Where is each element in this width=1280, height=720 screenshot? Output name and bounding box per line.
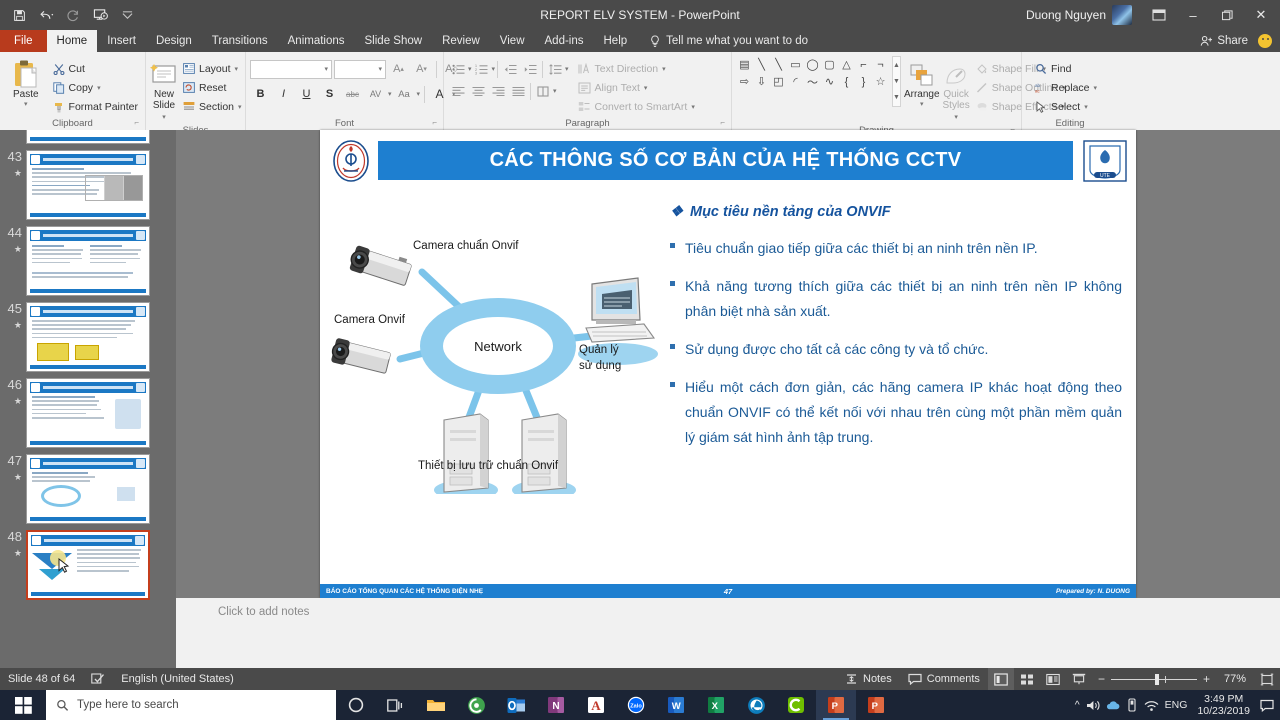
search-icon <box>56 699 69 712</box>
usb-icon[interactable] <box>1126 698 1138 712</box>
arrange-caret-icon[interactable]: ▾ <box>920 100 924 108</box>
shapes-scroll-down-icon[interactable]: ▼ <box>893 73 900 89</box>
columns-caret-icon[interactable]: ▾ <box>553 87 557 95</box>
tab-animations[interactable]: Animations <box>278 30 355 52</box>
comments-label: Comments <box>927 673 980 685</box>
thumbnail-row-partial[interactable] <box>0 130 176 144</box>
title-bar: REPORT ELV SYSTEM - PowerPoint Duong Ngu… <box>0 0 1280 30</box>
svg-text:X: X <box>712 701 719 712</box>
slide-thumbnail-pane[interactable]: 43★ 44★ <box>0 130 176 668</box>
svg-text:Network: Network <box>474 339 522 354</box>
diamond-bullet-icon: ❖ <box>670 204 683 220</box>
slide-thumbnail-46[interactable] <box>26 378 150 448</box>
view-reading-button[interactable] <box>1040 668 1066 690</box>
numbering-caret-icon[interactable]: ▾ <box>492 65 496 73</box>
view-slide-sorter-button[interactable] <box>1014 668 1040 690</box>
clock-time: 3:49 PM <box>1197 693 1250 705</box>
change-case-button[interactable]: Aa <box>394 84 415 104</box>
shape-elbow2-icon[interactable]: ¬ <box>872 56 889 73</box>
shape-effects-icon <box>976 101 988 113</box>
zoom-default-tick <box>1165 676 1166 683</box>
taskbar-search-placeholder: Type here to search <box>77 699 179 711</box>
smartart-icon <box>578 101 591 113</box>
strikethrough-button[interactable]: abc <box>342 84 363 104</box>
animation-star-icon: ★ <box>4 394 22 408</box>
arrange-button[interactable]: Arrange ▾ <box>904 56 940 109</box>
thumbnail-number-47: 47★ <box>4 454 26 484</box>
onvif-network-diagram[interactable]: Network <box>330 224 660 494</box>
square-bullet-icon <box>670 243 675 248</box>
ribbon-group-slides: NewSlide ▾ Layout ▾ Reset Section <box>146 52 246 130</box>
tab-slide-show[interactable]: Slide Show <box>355 30 433 52</box>
notes-pane[interactable]: Click to add notes <box>176 598 1280 668</box>
powerpoint-icon-2[interactable]: P <box>856 690 896 720</box>
group-label-font: Font ⌐ <box>250 117 439 130</box>
shape-right-brace-icon[interactable]: } <box>855 73 872 90</box>
replace-label: Replace <box>1051 82 1090 94</box>
paste-icon <box>12 57 40 89</box>
diagram-label-camera-onvif: Camera Onvif <box>334 314 405 326</box>
decrease-font-size-button[interactable]: A▾ <box>411 59 432 79</box>
shape-fill-icon <box>976 63 988 75</box>
notes-icon <box>845 673 858 685</box>
shape-line-arrow-icon[interactable]: ╲ <box>770 56 787 73</box>
slide-title-banner[interactable]: CÁC THÔNG SỐ CƠ BẢN CỦA HỆ THỐNG CCTV <box>378 141 1073 180</box>
italic-button[interactable]: I <box>273 84 294 104</box>
shape-wave-icon[interactable]: ∿ <box>821 73 838 90</box>
slide-footer-number: 47 <box>320 587 1136 596</box>
group-label-paragraph: Paragraph ⌐ <box>448 117 727 130</box>
bullet-item-1: Tiêu chuẩn giao tiếp giữa các thiết bị a… <box>670 236 1122 261</box>
svg-text:N: N <box>552 701 559 712</box>
shape-elbow-icon[interactable]: ⌐ <box>855 56 872 73</box>
file-explorer-icon[interactable] <box>416 690 456 720</box>
diagram-label-su-dung: sử dụng <box>579 360 621 372</box>
diagram-label-camera-chuan-onvif: Camera chuẩn Onvif <box>413 240 518 252</box>
zoom-out-button[interactable]: − <box>1098 672 1105 686</box>
slide-thumbnail-48-selected[interactable] <box>26 530 150 600</box>
svg-text:W: W <box>672 701 681 712</box>
square-bullet-icon <box>670 382 675 387</box>
slide-title-text: CÁC THÔNG SỐ CƠ BẢN CỦA HỆ THỐNG CCTV <box>490 149 962 172</box>
bullet-text-3: Sử dụng được cho tất cả các công ty và t… <box>685 337 1122 362</box>
convert-to-smartart-button[interactable]: Convert to SmartArt ▾ <box>575 97 698 116</box>
slide-thumbnail-47[interactable] <box>26 454 150 524</box>
redo-icon[interactable] <box>60 3 86 27</box>
character-spacing-button[interactable]: AV <box>365 84 386 104</box>
quick-styles-label-1: Quick <box>943 89 969 100</box>
scissors-icon <box>53 63 65 75</box>
shape-textbox-icon[interactable]: ▤ <box>736 56 753 73</box>
format-painter-icon <box>53 101 65 113</box>
slide-bullet-list[interactable]: ❖ Mục tiêu nền tảng của ONVIF Tiêu chuẩn… <box>670 204 1122 463</box>
account-name[interactable]: Duong Nguyen <box>1026 8 1112 22</box>
cursor-icon <box>1035 101 1047 113</box>
font-name-caret-icon: ▾ <box>324 65 328 73</box>
shape-curve-icon[interactable]: 〜 <box>804 73 821 90</box>
shapes-scroll-up-icon[interactable]: ▲ <box>893 57 900 73</box>
cut-button[interactable]: Cut <box>50 59 141 78</box>
word-icon[interactable]: W <box>656 690 696 720</box>
tray-expand-icon[interactable]: ^ <box>1075 699 1080 711</box>
copy-button[interactable]: Copy ▾ <box>50 78 141 97</box>
ute-logo: UTE <box>1082 138 1128 184</box>
copy-label: Copy <box>69 82 94 94</box>
shapes-gallery[interactable]: ▤ ╲ ╲ ▭ ◯ ▢ △ ⌐ ¬ ⇨ ⇩ ◰ ◜ 〜 ∿ { } <box>736 56 889 90</box>
action-center-icon[interactable] <box>1260 699 1274 712</box>
ribbon-group-drawing: ▤ ╲ ╲ ▭ ◯ ▢ △ ⌐ ¬ ⇨ ⇩ ◰ ◜ 〜 ∿ { } <box>732 52 1022 130</box>
layout-icon <box>183 63 195 74</box>
tab-review[interactable]: Review <box>432 30 490 52</box>
align-center-button[interactable] <box>468 81 488 101</box>
slide-thumbnail-44[interactable] <box>26 226 150 296</box>
shape-triangle-icon[interactable]: △ <box>838 56 855 73</box>
svg-text:ab: ab <box>1035 83 1041 88</box>
feedback-smiley-icon[interactable] <box>1258 34 1272 48</box>
shape-folded-corner-icon[interactable]: ◰ <box>770 73 787 90</box>
increase-indent-button[interactable] <box>520 59 540 79</box>
language-indicator[interactable]: English (United States) <box>113 673 242 685</box>
tell-me-search[interactable]: Tell me what you want to do <box>637 30 808 52</box>
restore-button[interactable] <box>1210 0 1244 30</box>
layout-label: Layout <box>199 63 231 75</box>
justify-button[interactable] <box>508 81 528 101</box>
windows-taskbar: Type here to search N A Zalo W X <box>0 690 1280 720</box>
view-normal-button[interactable] <box>988 668 1014 690</box>
font-size-caret-icon: ▾ <box>378 65 382 73</box>
find-label: Find <box>1051 63 1071 75</box>
animation-star-icon: ★ <box>4 546 22 560</box>
unikey-icon[interactable]: A <box>576 690 616 720</box>
section-icon <box>183 101 195 112</box>
slide-footer: BÁO CÁO TỔNG QUAN CÁC HỆ THỐNG ĐIỆN NHẸ … <box>320 584 1136 598</box>
svg-text:UTE: UTE <box>1100 173 1111 179</box>
copy-caret-icon[interactable]: ▾ <box>97 84 101 92</box>
layout-button[interactable]: Layout ▾ <box>180 59 245 78</box>
excel-icon[interactable]: X <box>696 690 736 720</box>
shape-arrow-right-icon[interactable]: ⇨ <box>736 73 753 90</box>
share-person-icon <box>1200 35 1213 47</box>
group-label-editing: Editing <box>1026 117 1114 130</box>
align-text-label: Align Text <box>595 82 640 94</box>
minimize-button[interactable]: – <box>1176 0 1210 30</box>
tell-me-label: Tell me what you want to do <box>666 35 808 47</box>
select-label: Select <box>1051 101 1080 113</box>
cortana-icon[interactable] <box>336 690 376 720</box>
comments-toggle-button[interactable]: Comments <box>900 673 988 685</box>
cut-label: Cut <box>69 63 85 75</box>
layout-caret-icon[interactable]: ▾ <box>235 65 239 73</box>
paragraph-dialog-launcher[interactable]: ⌐ <box>720 116 725 129</box>
customize-qat-icon[interactable] <box>114 3 140 27</box>
taskbar-search-box[interactable]: Type here to search <box>46 690 336 720</box>
avatar[interactable] <box>1112 5 1132 25</box>
new-slide-label-2: Slide <box>153 100 175 111</box>
paste-caret-icon[interactable]: ▾ <box>24 100 28 108</box>
quick-styles-button[interactable]: QuickStyles ▾ <box>943 56 970 124</box>
select-button[interactable]: Select ▾ <box>1032 97 1100 116</box>
shape-rectangle-icon[interactable]: ▭ <box>787 56 804 73</box>
notes-toggle-button[interactable]: Notes <box>837 673 900 685</box>
shapes-more-icon[interactable]: ▼ <box>893 90 900 106</box>
edge-icon[interactable] <box>736 690 776 720</box>
university-seal-logo <box>328 138 374 184</box>
bullet-text-4: Hiểu một cách đơn giản, các hãng camera … <box>685 375 1122 450</box>
slide-editing-stage: CÁC THÔNG SỐ CƠ BẢN CỦA HỆ THỐNG CCTV UT… <box>176 130 1280 598</box>
slide-thumbnail-43[interactable] <box>26 150 150 220</box>
current-slide[interactable]: CÁC THÔNG SỐ CƠ BẢN CỦA HỆ THỐNG CCTV UT… <box>320 130 1136 598</box>
clipboard-dialog-launcher[interactable]: ⌐ <box>134 116 139 129</box>
spell-check-icon[interactable] <box>83 673 113 685</box>
reset-label: Reset <box>199 82 226 94</box>
network-icon[interactable] <box>1144 699 1159 712</box>
new-slide-label-1: New <box>154 89 174 100</box>
section-label: Section <box>199 101 234 113</box>
ribbon-group-editing: Find abac Replace ▾ Select ▾ Editing <box>1022 52 1118 130</box>
share-button[interactable]: Share <box>1200 35 1248 47</box>
font-dialog-launcher[interactable]: ⌐ <box>432 116 437 129</box>
thumbnail-row-46[interactable]: 46★ <box>0 372 176 448</box>
text-direction-button[interactable]: Text Direction ▾ <box>575 59 698 78</box>
bullet-text-2: Khả năng tương thích giữa các thiết bị a… <box>685 274 1122 324</box>
thumbnail-row-48[interactable]: 48★ <box>0 524 176 600</box>
text-shadow-button[interactable]: S <box>319 84 340 104</box>
character-spacing-caret-icon[interactable]: ▾ <box>388 90 392 98</box>
align-right-button[interactable] <box>488 81 508 101</box>
share-label: Share <box>1217 35 1248 47</box>
thumbnail-number-44: 44★ <box>4 226 26 256</box>
zalo-icon[interactable]: Zalo <box>616 690 656 720</box>
tab-help[interactable]: Help <box>594 30 638 52</box>
shapes-gallery-scrollbar[interactable]: ▲ ▼ ▼ <box>892 56 901 107</box>
zoom-handle[interactable] <box>1155 674 1159 685</box>
tab-transitions[interactable]: Transitions <box>202 30 278 52</box>
shape-star-icon[interactable]: ☆ <box>872 73 889 90</box>
zoom-percentage[interactable]: 77% <box>1216 673 1254 685</box>
comment-icon <box>908 673 922 685</box>
numbering-button[interactable]: 123 <box>472 59 492 79</box>
paste-label: Paste <box>13 89 39 100</box>
thumbnail-number-46: 46★ <box>4 378 26 408</box>
mouse-cursor-icon <box>58 558 72 574</box>
clock-date: 10/23/2019 <box>1197 705 1250 717</box>
slide-count-indicator[interactable]: Slide 48 of 64 <box>0 673 83 685</box>
quick-access-toolbar <box>0 3 140 27</box>
thumbnail-row-47[interactable]: 47★ <box>0 448 176 524</box>
thumbnail-row-43[interactable]: 43★ <box>0 144 176 220</box>
thumbnail-number-43: 43★ <box>4 150 26 180</box>
ribbon-display-options-icon[interactable] <box>1142 0 1176 30</box>
close-button[interactable]: ✕ <box>1244 0 1278 30</box>
ribbon-tab-strip: File Home Insert Design Transitions Anim… <box>0 30 1280 52</box>
shape-arrow-down-icon[interactable]: ⇩ <box>753 73 770 90</box>
onedrive-icon[interactable] <box>1106 699 1120 712</box>
status-bar: Slide 48 of 64 English (United States) N… <box>0 668 1280 690</box>
tab-add-ins[interactable]: Add-ins <box>535 30 594 52</box>
format-painter-label: Format Painter <box>69 101 138 113</box>
shape-line-icon[interactable]: ╲ <box>753 56 770 73</box>
ribbon: Paste ▾ Cut Copy ▾ Format Pain <box>0 52 1280 130</box>
bullet-heading: ❖ Mục tiêu nền tảng của ONVIF <box>670 204 1122 220</box>
zoom-track[interactable] <box>1111 679 1197 680</box>
taskbar-clock[interactable]: 3:49 PM 10/23/2019 <box>1193 693 1254 717</box>
shape-outline-icon <box>976 82 988 94</box>
shape-left-brace-icon[interactable]: { <box>838 73 855 90</box>
shape-oval-icon[interactable]: ◯ <box>804 56 821 73</box>
animation-star-icon: ★ <box>4 470 22 484</box>
start-button[interactable] <box>0 690 46 720</box>
section-button[interactable]: Section ▾ <box>180 97 245 116</box>
slide-thumbnail[interactable] <box>26 130 150 144</box>
tab-insert[interactable]: Insert <box>97 30 146 52</box>
reset-icon <box>183 82 195 93</box>
bullet-item-3: Sử dụng được cho tất cả các công ty và t… <box>670 337 1122 362</box>
tab-home[interactable]: Home <box>47 30 98 52</box>
format-painter-button[interactable]: Format Painter <box>50 97 141 116</box>
save-icon[interactable] <box>6 3 32 27</box>
undo-icon[interactable] <box>33 3 59 27</box>
bullet-text-1: Tiêu chuẩn giao tiếp giữa các thiết bị a… <box>685 236 1122 261</box>
tab-view[interactable]: View <box>490 30 535 52</box>
start-presentation-icon[interactable] <box>87 3 113 27</box>
line-spacing-button[interactable] <box>545 59 565 79</box>
svg-text:ac: ac <box>1035 88 1041 93</box>
ribbon-group-font: ▾ ▾ A▴ A▾ A◇ B I U S abc AV <box>246 52 444 130</box>
section-caret-icon[interactable]: ▾ <box>238 103 242 111</box>
group-label-clipboard: Clipboard ⌐ <box>4 117 141 130</box>
powerpoint-icon-active[interactable]: P <box>816 690 856 720</box>
text-direction-label: Text Direction <box>595 63 659 75</box>
thumbnail-row-45[interactable]: 45★ <box>0 296 176 372</box>
fit-slide-to-window-button[interactable] <box>1254 668 1280 690</box>
new-slide-icon <box>150 57 178 89</box>
onenote-icon[interactable]: N <box>536 690 576 720</box>
coccoc-icon[interactable] <box>776 690 816 720</box>
find-button[interactable]: Find <box>1032 59 1100 78</box>
bullet-heading-text: Mục tiêu nền tảng của ONVIF <box>690 204 891 220</box>
bullets-button[interactable] <box>448 59 468 79</box>
task-view-icon[interactable] <box>376 690 416 720</box>
new-slide-button[interactable]: NewSlide ▾ <box>150 56 178 124</box>
convert-to-smartart-label: Convert to SmartArt <box>595 101 688 113</box>
tab-design[interactable]: Design <box>146 30 202 52</box>
thumbnail-row-44[interactable]: 44★ <box>0 220 176 296</box>
svg-text:Zalo: Zalo <box>630 703 642 709</box>
svg-text:P: P <box>832 701 839 712</box>
paste-button[interactable]: Paste ▾ <box>4 56 48 109</box>
search-icon <box>1035 63 1047 75</box>
slide-content-area[interactable]: Network <box>320 192 1136 572</box>
shape-arc-icon[interactable]: ◜ <box>787 73 804 90</box>
diagram-label-thiet-bi-luu-tru: Thiết bị lưu trữ chuẩn Onvif <box>418 460 558 472</box>
svg-text:3: 3 <box>475 71 477 74</box>
bullet-item-2: Khả năng tương thích giữa các thiết bị a… <box>670 274 1122 324</box>
svg-text:A: A <box>591 698 601 713</box>
replace-icon: abac <box>1035 82 1047 94</box>
square-bullet-icon <box>670 344 675 349</box>
font-size-combobox[interactable]: ▾ <box>334 60 386 79</box>
thumbnail-number-45: 45★ <box>4 302 26 332</box>
animation-star-icon: ★ <box>4 242 22 256</box>
system-tray: ^ ENG 3:49 PM 10/23/2019 <box>1075 693 1280 717</box>
underline-button[interactable]: U <box>296 84 317 104</box>
bold-button[interactable]: B <box>250 84 271 104</box>
lightbulb-icon <box>649 35 661 48</box>
shape-rounded-rect-icon[interactable]: ▢ <box>821 56 838 73</box>
square-bullet-icon <box>670 281 675 286</box>
volume-icon[interactable] <box>1086 699 1100 712</box>
ribbon-group-paragraph: ▾ 123 ▾ <box>444 52 732 130</box>
decrease-indent-button[interactable] <box>500 59 520 79</box>
tab-file[interactable]: File <box>0 30 47 52</box>
change-case-caret-icon[interactable]: ▾ <box>417 90 421 98</box>
slide-thumbnail-45[interactable] <box>26 302 150 372</box>
view-slide-show-button[interactable] <box>1066 668 1092 690</box>
increase-font-size-button[interactable]: A▴ <box>388 59 409 79</box>
arrange-label: Arrange <box>904 89 940 100</box>
arrange-icon <box>909 57 935 89</box>
outlook-icon[interactable] <box>496 690 536 720</box>
powerpoint-window: REPORT ELV SYSTEM - PowerPoint Duong Ngu… <box>0 0 1280 720</box>
align-text-button[interactable]: Align Text ▾ <box>575 78 698 97</box>
replace-button[interactable]: abac Replace ▾ <box>1032 78 1100 97</box>
quick-styles-icon <box>943 57 969 89</box>
align-left-button[interactable] <box>448 81 468 101</box>
quick-styles-label-2: Styles <box>943 100 970 111</box>
zoom-slider[interactable]: − + <box>1092 672 1216 686</box>
language-indicator[interactable]: ENG <box>1165 699 1188 711</box>
columns-button[interactable] <box>533 81 553 101</box>
animation-star-icon: ★ <box>4 166 22 180</box>
network-diagram-graphic: Network <box>330 224 660 494</box>
ribbon-group-clipboard: Paste ▾ Cut Copy ▾ Format Pain <box>0 52 146 130</box>
thumbnail-number-48: 48★ <box>4 530 26 560</box>
zoom-in-button[interactable]: + <box>1203 672 1210 686</box>
slide-title-area[interactable]: CÁC THÔNG SỐ CƠ BẢN CỦA HỆ THỐNG CCTV UT… <box>320 138 1136 184</box>
reset-button[interactable]: Reset <box>180 78 245 97</box>
diagram-label-quan-ly: Quản lý <box>579 344 619 356</box>
text-direction-icon <box>578 63 591 75</box>
animation-star-icon: ★ <box>4 318 22 332</box>
antivirus-icon[interactable] <box>456 690 496 720</box>
notes-label: Notes <box>863 673 892 685</box>
bullet-item-4: Hiểu một cách đơn giản, các hãng camera … <box>670 375 1122 450</box>
font-name-combobox[interactable]: ▾ <box>250 60 332 79</box>
align-text-icon <box>578 82 591 94</box>
copy-icon <box>53 82 65 94</box>
svg-text:P: P <box>872 701 879 712</box>
